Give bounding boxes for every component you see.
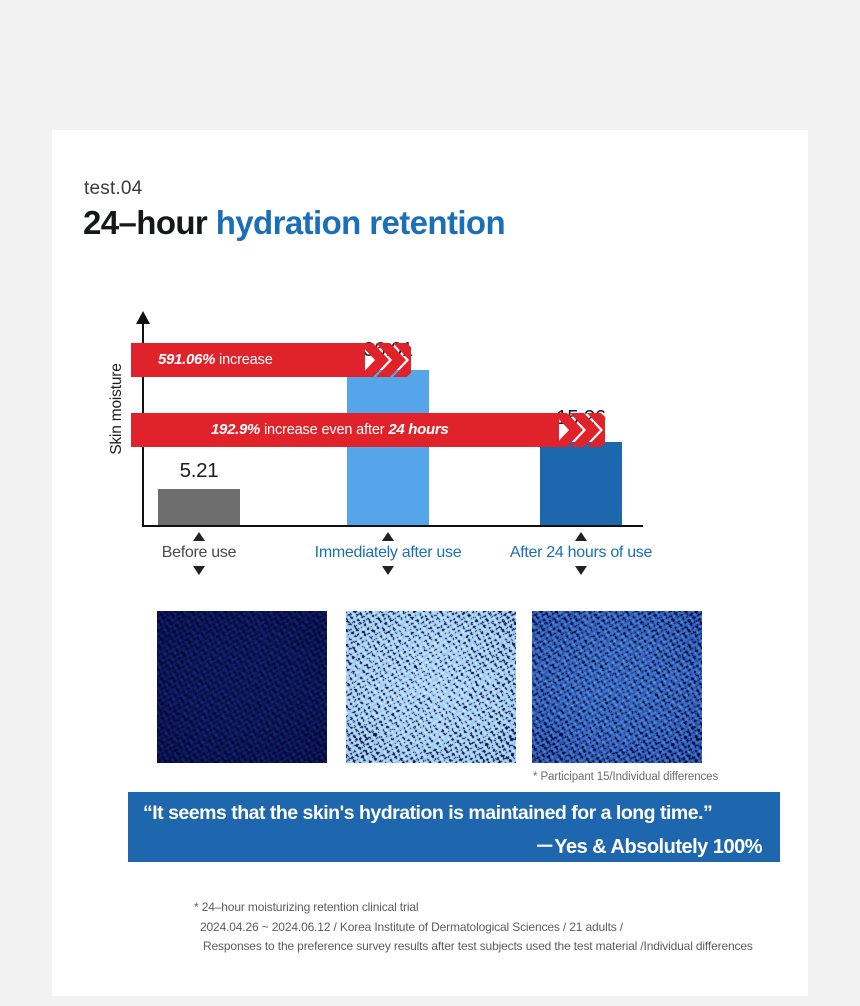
banner-chevrons-icon xyxy=(359,343,411,377)
bar-value-before-use: 5.21 xyxy=(134,459,264,483)
page-title-dark: 24–hour xyxy=(83,204,216,241)
participant-note: * Participant 15/Individual differences xyxy=(533,771,718,783)
footnote-line-3: Responses to the preference survey resul… xyxy=(194,937,753,957)
quote-line-2: －Yes & Absolutely 100% xyxy=(535,830,762,859)
increase-banner-192-text: 192.9% increase even after 24 hours xyxy=(131,422,448,438)
content-card: test.04 24–hour hydration retention Skin… xyxy=(52,130,808,996)
tick-group-immediately-after-use: Immediately after use xyxy=(288,532,488,575)
footnote-line-1: * 24–hour moisturizing retention clinica… xyxy=(194,898,753,918)
footnote-line-2: 2024.04.26 ~ 2024.06.12 / Korea Institut… xyxy=(194,918,753,938)
chart-y-axis-arrow-icon xyxy=(136,311,150,324)
footnote-block: * 24–hour moisturizing retention clinica… xyxy=(194,898,753,957)
tick-arrow-down-icon xyxy=(193,566,205,575)
bar-after-24-hours xyxy=(540,442,622,525)
tick-label-after-24-hours: After 24 hours of use xyxy=(481,544,681,562)
skin-image-immediately-after-use xyxy=(346,611,516,763)
tick-arrow-up-icon xyxy=(382,532,394,541)
tick-label-immediately-after-use: Immediately after use xyxy=(288,544,488,562)
bar-before-use xyxy=(158,489,240,525)
test-number-label: test.04 xyxy=(84,178,142,200)
skin-image-after-24-hours xyxy=(532,611,702,763)
tick-arrow-down-icon xyxy=(575,566,587,575)
tick-arrow-up-icon xyxy=(193,532,205,541)
chart-x-axis xyxy=(142,525,643,527)
quote-box: “It seems that the skin's hydration is m… xyxy=(128,792,780,862)
banner-chevrons-icon-2 xyxy=(553,413,605,447)
tick-arrow-down-icon xyxy=(382,566,394,575)
tick-label-before-use: Before use xyxy=(99,544,299,562)
page-title-accent: hydration retention xyxy=(216,204,505,241)
increase-banner-591-text: 591.06% increase xyxy=(131,352,273,368)
increase-banner-192: 192.9% increase even after 24 hours xyxy=(131,413,605,447)
tick-group-before-use: Before use xyxy=(99,532,299,575)
tick-arrow-up-icon xyxy=(575,532,587,541)
skin-image-before-use xyxy=(157,611,327,763)
tick-group-after-24-hours: After 24 hours of use xyxy=(481,532,681,575)
page-title: 24–hour hydration retention xyxy=(83,204,505,242)
bar-immediately-after-use xyxy=(347,370,429,525)
chart-y-axis-label: Skin moisture xyxy=(108,339,126,479)
quote-line-1: “It seems that the skin's hydration is m… xyxy=(143,802,712,825)
increase-banner-591: 591.06% increase xyxy=(131,343,411,377)
